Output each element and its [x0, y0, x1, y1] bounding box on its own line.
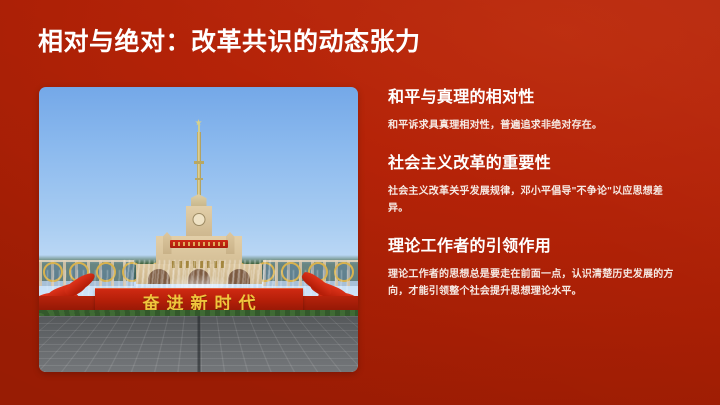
page-title: 相对与绝对：改革共识的动态张力: [38, 26, 421, 58]
section-body: 理论工作者的思想总是要走在前面一点，认识清楚历史发展的方向，才能引领整个社会提升…: [388, 266, 680, 300]
section-body: 和平诉求具真理相对性，普遍追求非绝对存在。: [388, 117, 680, 134]
section-heading: 理论工作者的引领作用: [388, 237, 680, 257]
slide-root: 相对与绝对：改革共识的动态张力: [0, 0, 720, 405]
section-heading: 和平与真理的相对性: [388, 88, 680, 108]
facade-red-banner: [170, 240, 228, 248]
slide-image: 奋进新时代: [39, 87, 358, 372]
content-block-2: 社会主义改革的重要性 社会主义改革关乎发展规律，邓小平倡导"不争论"以应思想差异…: [388, 154, 680, 217]
ribbon-fold: [63, 270, 98, 299]
spire: [197, 132, 201, 196]
content-column: 和平与真理的相对性 和平诉求具真理相对性，普遍追求非绝对存在。 社会主义改革的重…: [388, 88, 680, 300]
spire-collar: [194, 161, 204, 164]
plaza-pavement: [39, 316, 358, 372]
spire-collar-lower: [195, 178, 203, 180]
content-block-3: 理论工作者的引领作用 理论工作者的思想总是要走在前面一点，认识清楚历史发展的方向…: [388, 237, 680, 300]
section-body: 社会主义改革关乎发展规律，邓小平倡导"不争论"以应思想差异。: [388, 183, 680, 217]
pavement-center-seam: [197, 316, 200, 372]
clock-face-icon: [192, 213, 205, 226]
content-block-1: 和平与真理的相对性 和平诉求具真理相对性，普遍追求非绝对存在。: [388, 88, 680, 134]
section-heading: 社会主义改革的重要性: [388, 154, 680, 174]
beijing-exhibition-center-photo: 奋进新时代: [39, 87, 358, 372]
